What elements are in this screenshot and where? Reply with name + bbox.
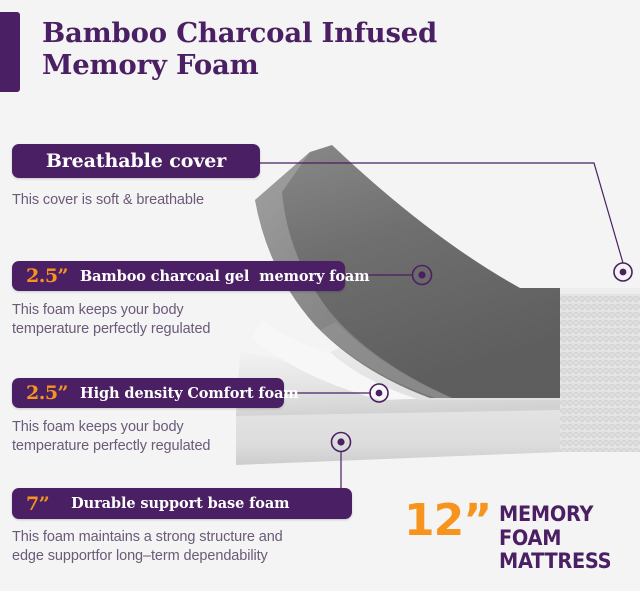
- knit-cover-panel: [560, 288, 640, 452]
- layer-badge-durable-support-base[interactable]: 7” Durable support base foam: [12, 488, 352, 519]
- layer-badge-label: Breathable cover: [46, 150, 226, 172]
- layer-badge-label: Durable support base foam: [71, 495, 289, 512]
- layer-badge-measurement: 2.5”: [26, 265, 68, 287]
- layer-description-breathable-cover: This cover is soft & breathable: [12, 191, 312, 210]
- layer-description-durable-support-base: This foam maintains a strong structure a…: [12, 528, 352, 565]
- product-summary-size: 12”: [404, 500, 491, 542]
- layer-description-high-density-comfort: This foam keeps your body temperature pe…: [12, 418, 312, 455]
- layer-badge-breathable-cover[interactable]: Breathable cover: [12, 144, 260, 178]
- product-summary: 12” MEMORY FOAM MATTRESS: [404, 500, 640, 574]
- infographic-page: Bamboo Charcoal Infused Memory Foam Brea…: [0, 0, 640, 591]
- page-title: Bamboo Charcoal Infused Memory Foam: [42, 18, 522, 82]
- title-accent-bar: [0, 12, 20, 92]
- layer-badge-measurement: 2.5”: [26, 382, 68, 404]
- product-summary-label: MEMORY FOAM MATTRESS: [499, 500, 629, 574]
- layer-badge-measurement: 7”: [26, 493, 49, 515]
- layer-badge-bamboo-charcoal-gel[interactable]: 2.5” Bamboo charcoal gel memory foam: [12, 261, 345, 291]
- layer-badge-label: High density Comfort foam: [80, 385, 299, 402]
- layer-description-bamboo-charcoal-gel: This foam keeps your body temperature pe…: [12, 301, 312, 338]
- layer-badge-high-density-comfort[interactable]: 2.5” High density Comfort foam: [12, 378, 284, 408]
- callout-dot-cover: [614, 263, 632, 281]
- layer-badge-label: Bamboo charcoal gel memory foam: [80, 268, 370, 285]
